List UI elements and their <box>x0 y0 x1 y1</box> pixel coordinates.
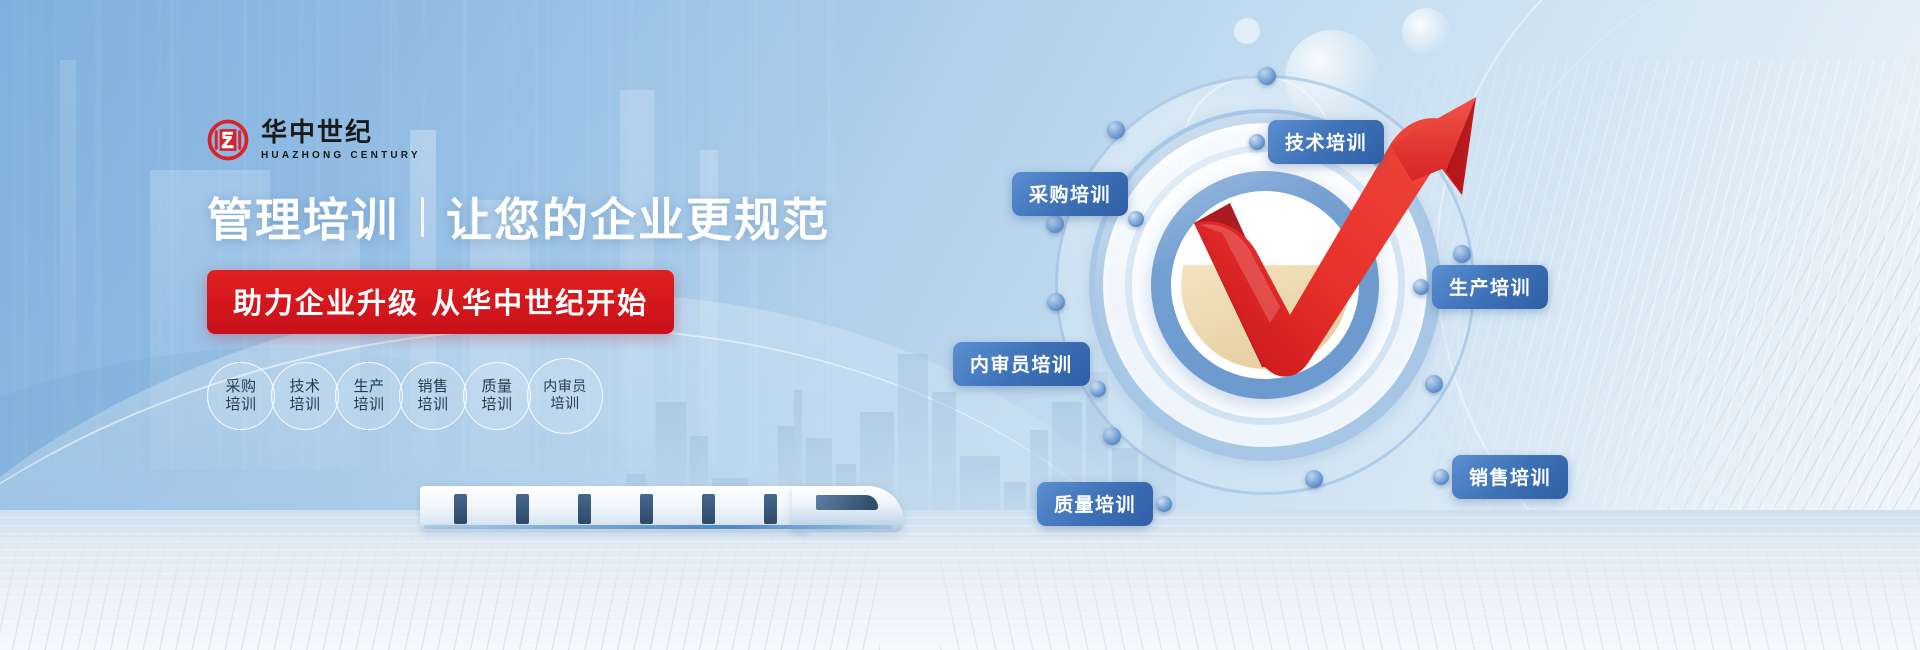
chip-line-2: 培训 <box>417 396 448 414</box>
callout-tag-zhiliang[interactable]: 质量培训 <box>1037 482 1153 526</box>
train-door <box>578 494 591 524</box>
chip-line-1: 生产 <box>353 378 384 396</box>
callout-tag-shengchan[interactable]: 生产培训 <box>1432 265 1548 309</box>
course-chip-jishu[interactable]: 技术 培训 <box>271 362 339 430</box>
headline-divider <box>421 197 424 237</box>
chip-line-1: 质量 <box>481 378 512 396</box>
connector-dot-icon <box>1090 381 1106 397</box>
connector-dot-icon <box>1156 496 1172 512</box>
callout-tag-label: 技术培训 <box>1285 132 1367 154</box>
brand-name-en: HUAZHONG CENTURY <box>261 150 421 161</box>
chip-line-1: 技术 <box>289 378 320 396</box>
chip-line-2: 培训 <box>225 396 256 414</box>
orbit-node <box>1046 215 1064 233</box>
course-chip-caigou[interactable]: 采购 培训 <box>207 362 275 430</box>
train-stripe <box>424 525 892 529</box>
tagline-badge: 助力企业升级 从华中世纪开始 <box>207 270 674 334</box>
chip-line-2: 培训 <box>353 396 384 414</box>
connector-dot-icon <box>1128 211 1144 227</box>
brand-name-cn: 华中世纪 <box>261 120 421 146</box>
glass-block <box>60 60 76 460</box>
callout-tag-caigou[interactable]: 采购培训 <box>1012 172 1128 216</box>
brand-logo: 华中世纪 HUAZHONG CENTURY <box>207 118 847 162</box>
callout-tag-jishu[interactable]: 技术培训 <box>1268 120 1384 164</box>
course-chip-shengchan[interactable]: 生产 培训 <box>335 362 403 430</box>
callout-tag-label: 销售培训 <box>1469 467 1551 489</box>
headline-part-2: 让您的企业更规范 <box>446 184 830 250</box>
high-speed-train-icon <box>420 470 900 532</box>
chip-line-2: 培训 <box>481 396 512 414</box>
chip-line-1: 销售 <box>417 378 448 396</box>
callout-tag-label: 内审员培训 <box>970 354 1073 376</box>
train-door <box>516 494 529 524</box>
course-chip-row: 采购 培训 技术 培训 生产 培训 销售 培训 质量 培训 内审员 培训 <box>207 358 847 434</box>
course-chip-xiaoshou[interactable]: 销售 培训 <box>399 362 467 430</box>
callout-tag-label: 采购培训 <box>1029 184 1111 206</box>
brand-wordmark: 华中世纪 HUAZHONG CENTURY <box>261 120 421 161</box>
orbit-node <box>1047 293 1065 311</box>
course-chip-neishenyuan[interactable]: 内审员 培训 <box>527 358 603 434</box>
huazhong-circle-logo-icon <box>207 119 249 161</box>
train-door <box>764 494 777 524</box>
glow-bubble-icon <box>1402 8 1450 56</box>
chip-line-2: 培训 <box>289 396 320 414</box>
headline-part-1: 管理培训 <box>207 184 399 250</box>
callout-tag-neishen[interactable]: 内审员培训 <box>953 342 1090 386</box>
callout-tag-xiaoshou[interactable]: 销售培训 <box>1452 455 1568 499</box>
chip-line-2: 培训 <box>551 396 580 413</box>
chip-line-1: 采购 <box>225 378 256 396</box>
callout-tag-label: 生产培训 <box>1449 277 1531 299</box>
glow-bubble-icon <box>1234 18 1260 44</box>
callout-tag-label: 质量培训 <box>1054 494 1136 516</box>
train-door <box>702 494 715 524</box>
train-window <box>816 495 878 510</box>
connector-dot-icon <box>1249 134 1265 150</box>
course-chip-zhiliang[interactable]: 质量 培训 <box>463 362 531 430</box>
page-title: 管理培训 让您的企业更规范 <box>207 184 847 250</box>
connector-dot-icon <box>1433 469 1449 485</box>
marketing-banner: 采购培训 技术培训 生产培训 销售培训 质量培训 内审员培训 华中世 <box>0 0 1920 650</box>
ground-diagonal-texture <box>940 510 1920 650</box>
chip-line-1: 内审员 <box>543 379 587 396</box>
content-column: 华中世纪 HUAZHONG CENTURY 管理培训 让您的企业更规范 助力企业… <box>207 118 847 434</box>
train-door <box>454 494 467 524</box>
connector-dot-icon <box>1413 279 1429 295</box>
train-door <box>640 494 653 524</box>
